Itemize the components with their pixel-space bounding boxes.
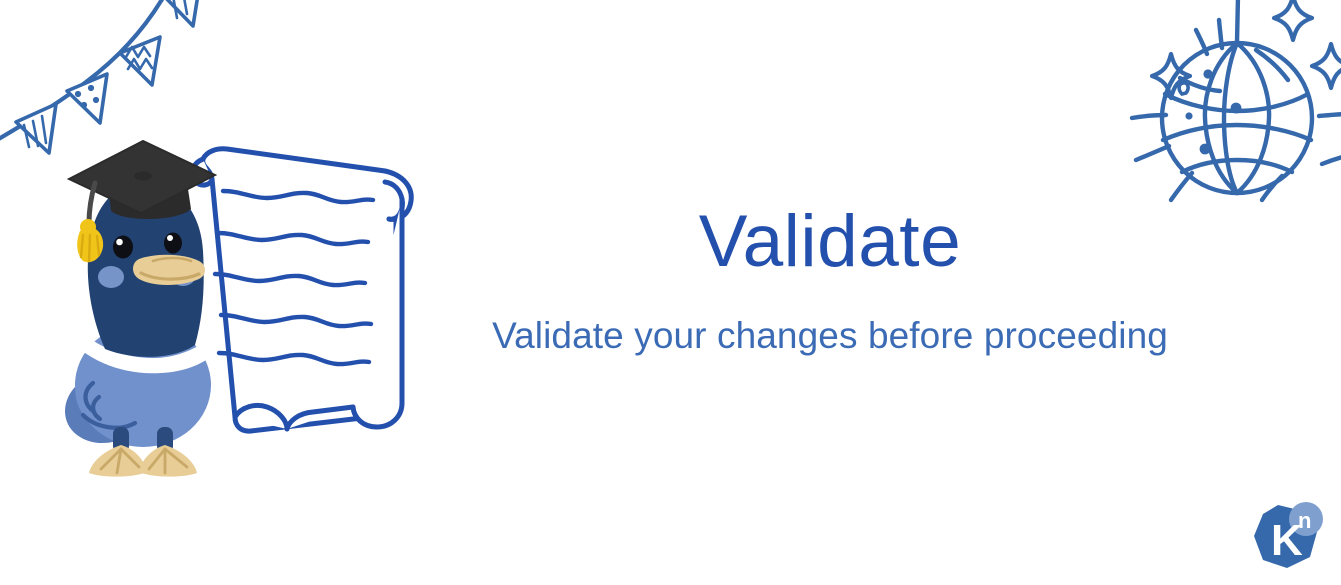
logo-letter-n: n [1298,508,1311,533]
bunting-flag-zigzag [120,37,160,85]
bunting-flag-plain [164,0,200,26]
page-title: Validate [480,205,1180,278]
disco-ball-rays [1132,20,1341,200]
scroll-document-icon [192,149,411,431]
disco-ball-icon [1116,0,1341,229]
brand-logo: K n [1247,499,1327,577]
validate-illustration [55,135,465,480]
bird-beak [133,255,205,285]
bunting-flag-dots [67,74,107,123]
bunting-flag-stripes [16,104,56,153]
bird-feet [89,445,197,477]
bird-cheek-left [98,266,124,288]
page-subtitle: Validate your changes before proceeding [480,316,1180,357]
slide-canvas: Validate Validate your changes before pr… [0,0,1341,585]
sparkle-icons [1152,0,1341,98]
disco-ball-tiles [1185,69,1241,154]
text-block: Validate Validate your changes before pr… [480,205,1180,357]
graduate-bird-mascot [65,141,215,477]
